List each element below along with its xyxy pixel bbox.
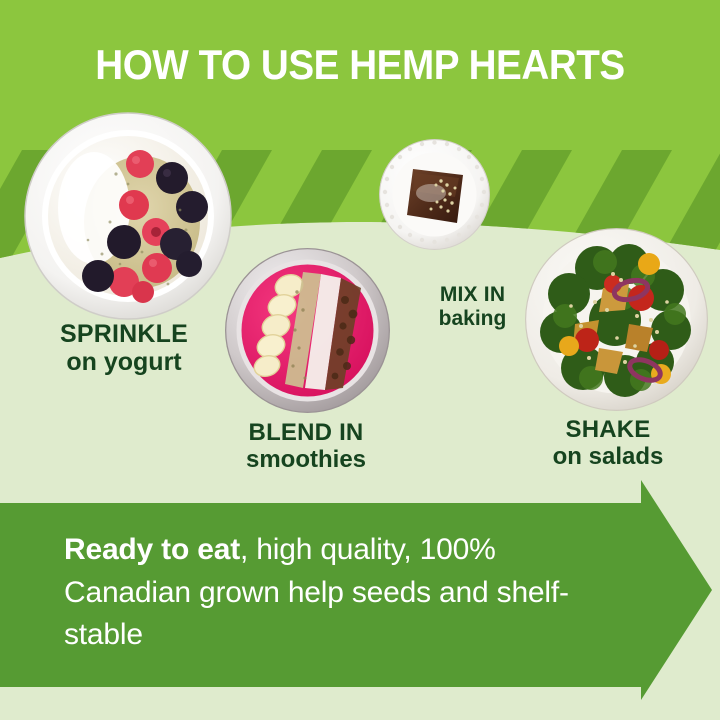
label-sprinkle-on-yogurt: SPRINKLE on yogurt [18,320,230,376]
label-line1: MIX IN [385,283,560,307]
banner-lead: Ready to eat [64,533,240,566]
label-line1: BLEND IN [190,420,422,447]
label-line1: SPRINKLE [18,320,230,348]
page-title: HOW TO USE HEMP HEARTS [29,44,691,86]
label-mix-in-baking: MIX IN baking [385,283,560,330]
label-line2: baking [385,307,560,331]
label-blend-in-smoothies: BLEND IN smoothies [190,420,422,474]
banner-text: Ready to eat, high quality, 100% Canadia… [64,529,624,657]
photo-blend-in-smoothies [225,248,390,413]
label-line2: on salads [508,444,708,471]
photo-sprinkle-on-yogurt [24,112,232,320]
label-shake-on-salads: SHAKE on salads [508,417,708,471]
hemp-hearts-infographic: HOW TO USE HEMP HEARTS [0,0,720,720]
label-line1: SHAKE [508,417,708,444]
photo-mix-in-baking [379,139,490,250]
label-line2: on yogurt [18,348,230,376]
label-line2: smoothies [190,447,422,474]
